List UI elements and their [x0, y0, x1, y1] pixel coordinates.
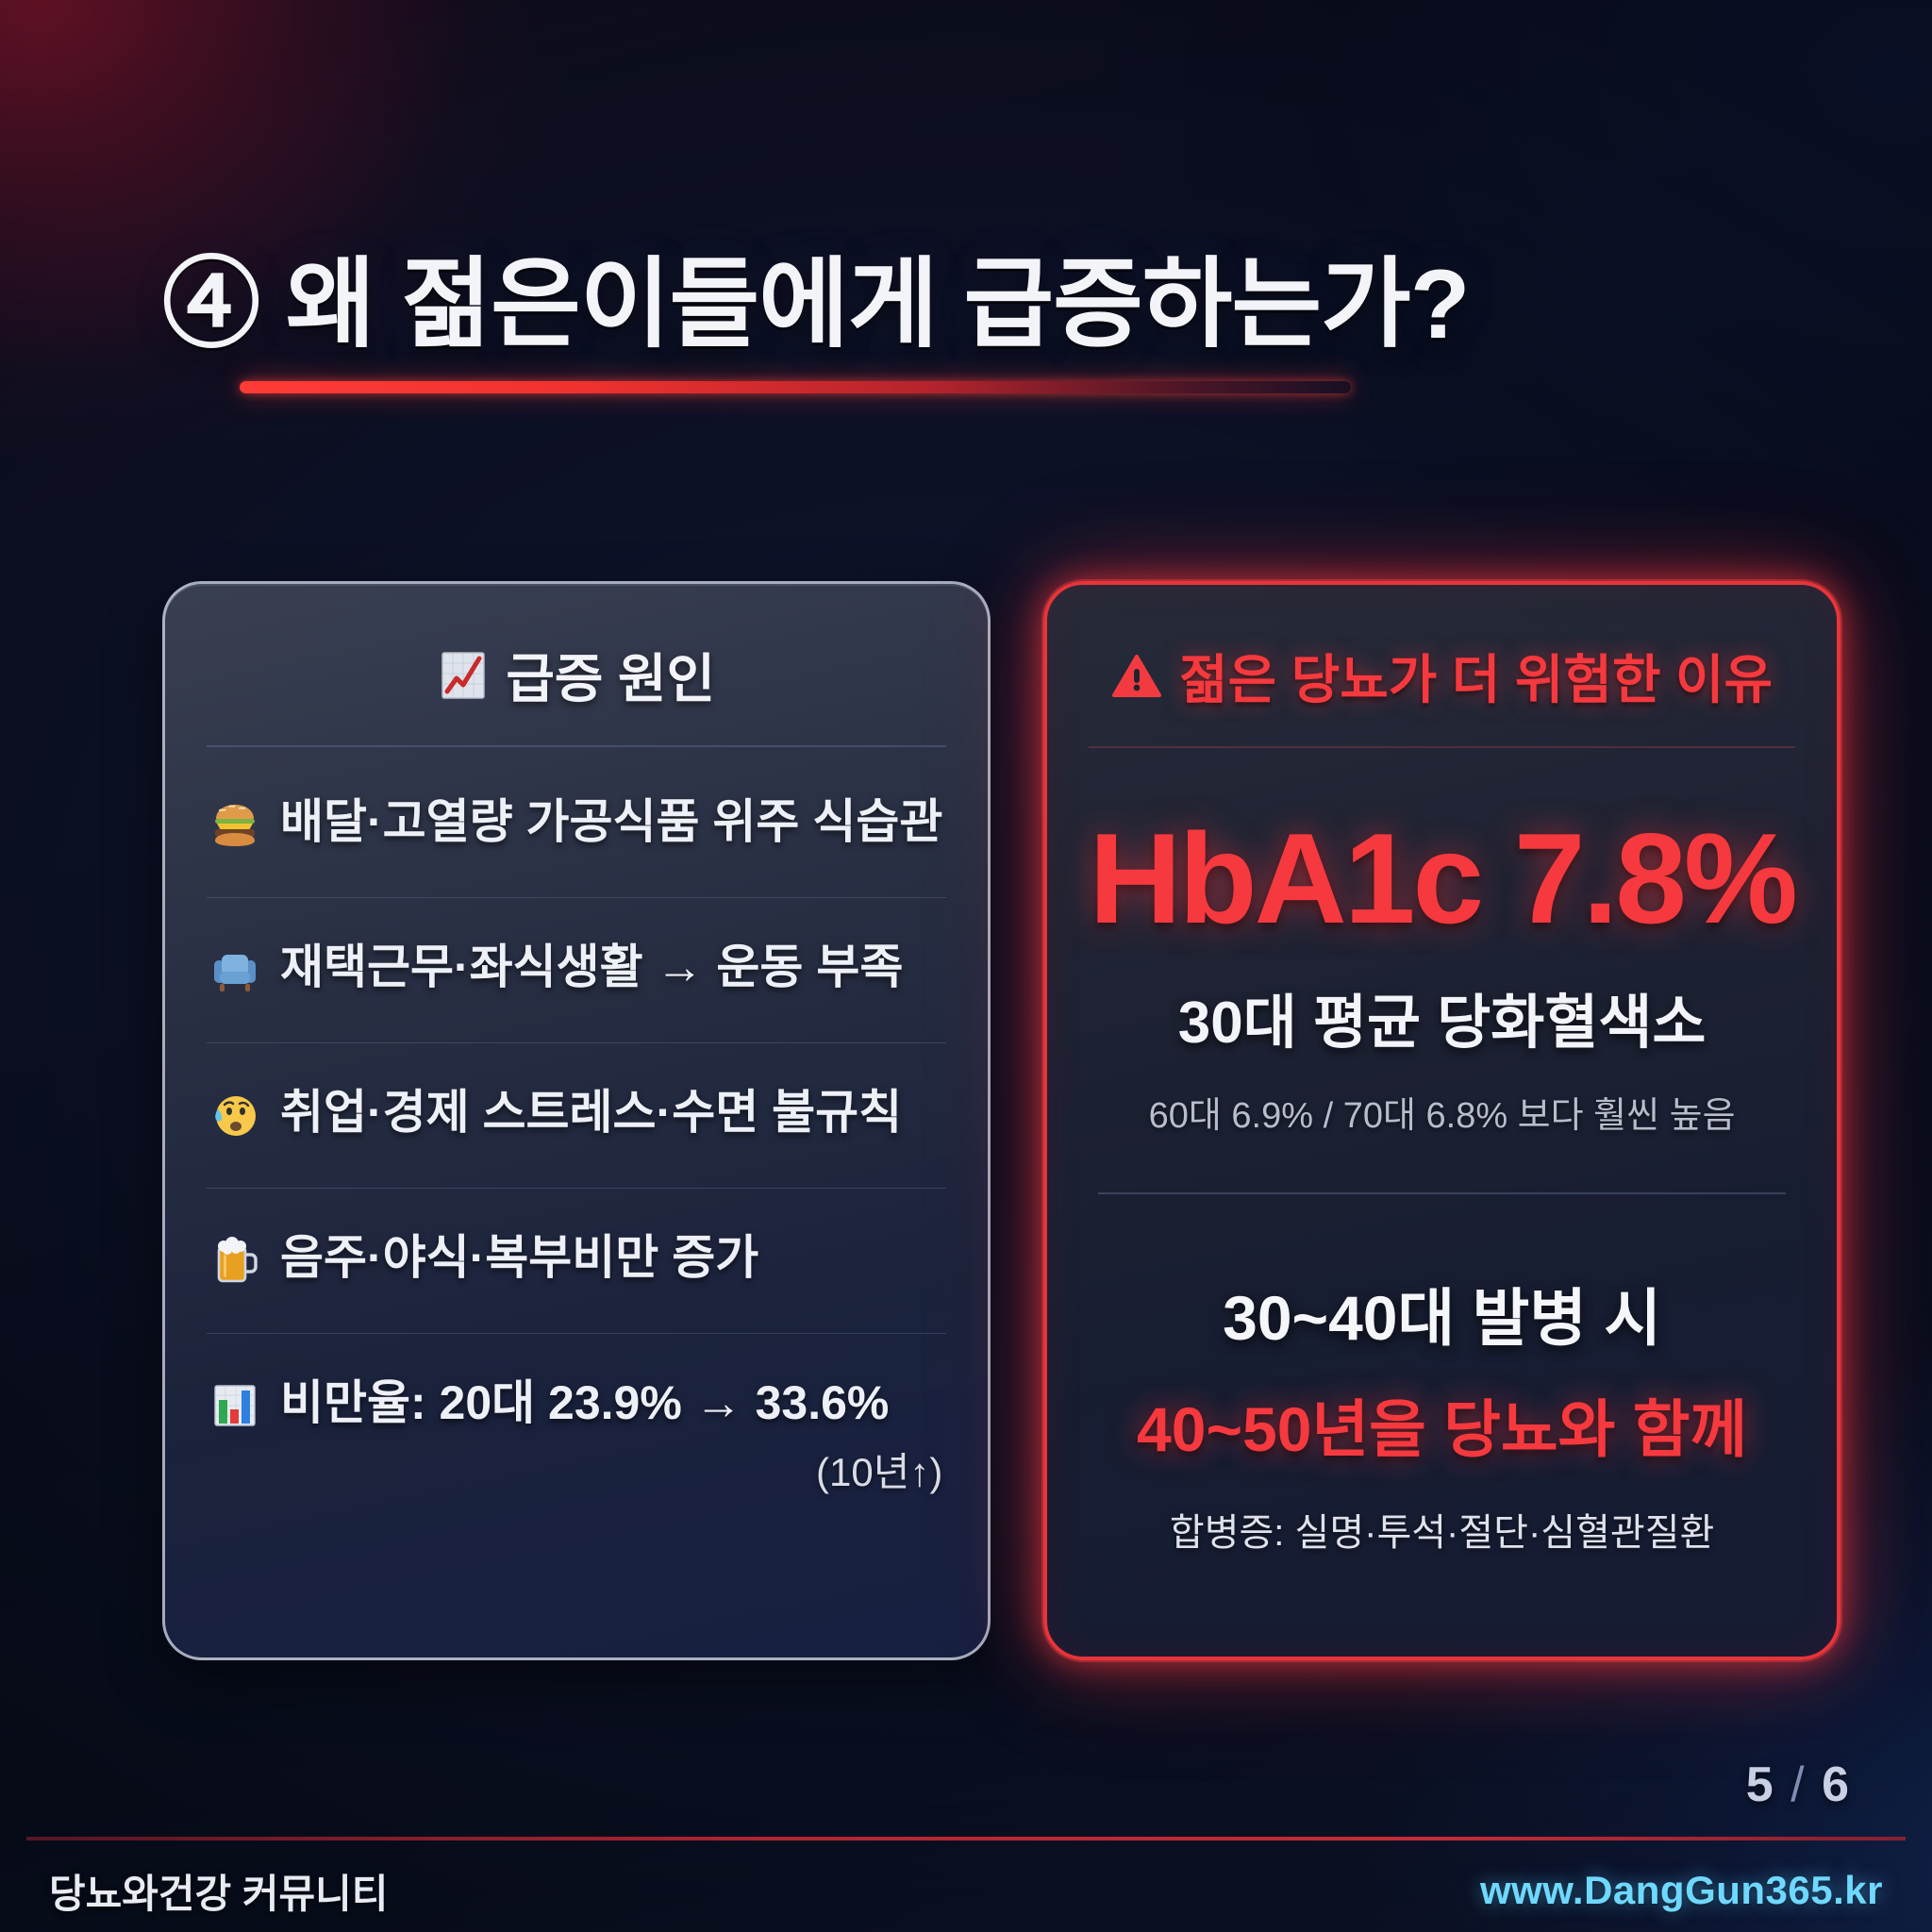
footer-url[interactable]: www.DangGun365.kr: [1480, 1868, 1883, 1913]
slide-canvas: ④ 왜 젊은이들에게 급증하는가? 급증 원: [0, 0, 1932, 1932]
list-item-body: 비만율: 20대 23.9% → 33.6% (10년↑): [280, 1375, 942, 1498]
card-causes-header: 급증 원인: [207, 637, 946, 747]
card-risk-header: 젊은 당뇨가 더 위험한 이유: [1089, 638, 1795, 748]
bar-chart-icon: [210, 1375, 259, 1437]
page-separator: /: [1790, 1757, 1806, 1812]
list-item: 재택근무·좌식생활 → 운동 부족: [207, 898, 946, 1043]
hba1c-comparison-note: 60대 6.9% / 70대 6.8% 보다 훨씬 높음: [1089, 1086, 1795, 1138]
card-causes: 급증 원인: [162, 581, 991, 1660]
page-title: ④ 왜 젊은이들에게 급증하는가?: [162, 253, 1766, 357]
list-item-label: 재택근무·좌식생활 → 운동 부족: [280, 940, 942, 995]
footer: 당뇨와건강 커뮤니티 www.DangGun365.kr: [0, 1849, 1932, 1932]
footer-brand: 당뇨와건강 커뮤니티: [49, 1862, 388, 1920]
onset-duration-line: 40~50년을 당뇨와 함께: [1089, 1379, 1795, 1470]
content-cards: 급증 원인: [162, 581, 1774, 1660]
card-risk: 젊은 당뇨가 더 위험한 이유 HbA1c 7.8% 30대 평균 당화혈색소 …: [1043, 581, 1840, 1660]
card-risk-title: 젊은 당뇨가 더 위험한 이유: [1179, 638, 1773, 714]
list-item-body: 재택근무·좌식생활 → 운동 부족: [280, 940, 942, 995]
list-item-subnote: (10년↑): [280, 1441, 942, 1498]
list-item: 음주·야식·복부비만 증가: [207, 1189, 946, 1334]
complications-note: 합병증: 실명·투석·절단·심혈관질환: [1089, 1502, 1795, 1557]
footer-divider: [26, 1837, 1906, 1840]
card-risk-body: HbA1c 7.8% 30대 평균 당화혈색소 60대 6.9% / 70대 6…: [1089, 748, 1795, 1611]
list-item-body: 취업·경제 스트레스·수면 불규칙: [280, 1085, 942, 1141]
section-divider: [1098, 1192, 1786, 1194]
list-item-label: 음주·야식·복부비만 증가: [280, 1230, 942, 1286]
list-item-label: 비만율: 20대 23.9% → 33.6%: [280, 1375, 942, 1431]
list-item: 배달·고열량 가공식품 위주 식습관: [207, 753, 946, 898]
list-item-label: 배달·고열량 가공식품 위주 식습관: [280, 794, 942, 850]
list-item-label: 취업·경제 스트레스·수면 불규칙: [280, 1085, 942, 1141]
list-item-body: 배달·고열량 가공식품 위주 식습관: [280, 794, 942, 850]
title-underline: [240, 381, 1351, 393]
hba1c-label: 30대 평균 당화혈색소: [1089, 974, 1795, 1059]
page-title-block: ④ 왜 젊은이들에게 급증하는가?: [162, 253, 1766, 393]
page-total: 6: [1822, 1757, 1851, 1812]
cause-list: 배달·고열량 가공식품 위주 식습관: [207, 753, 946, 1612]
page-indicator: 5 / 6: [1746, 1757, 1851, 1813]
onset-age-line: 30~40대 발병 시: [1089, 1268, 1795, 1358]
chart-increasing-icon: [438, 650, 489, 701]
beer-mug-icon: [210, 1230, 259, 1291]
list-item: 취업·경제 스트레스·수면 불규칙: [207, 1043, 946, 1189]
couch-icon: [210, 940, 259, 1001]
list-item-body: 음주·야식·복부비만 증가: [280, 1230, 942, 1286]
list-item: 비만율: 20대 23.9% → 33.6% (10년↑): [207, 1334, 946, 1540]
anxious-face-icon: [210, 1085, 259, 1146]
page-current: 5: [1746, 1757, 1775, 1812]
hba1c-value: HbA1c 7.8%: [1089, 814, 1795, 942]
hamburger-icon: [210, 794, 259, 856]
card-causes-title: 급증 원인: [506, 637, 715, 713]
warning-triangle-icon: [1111, 651, 1162, 702]
